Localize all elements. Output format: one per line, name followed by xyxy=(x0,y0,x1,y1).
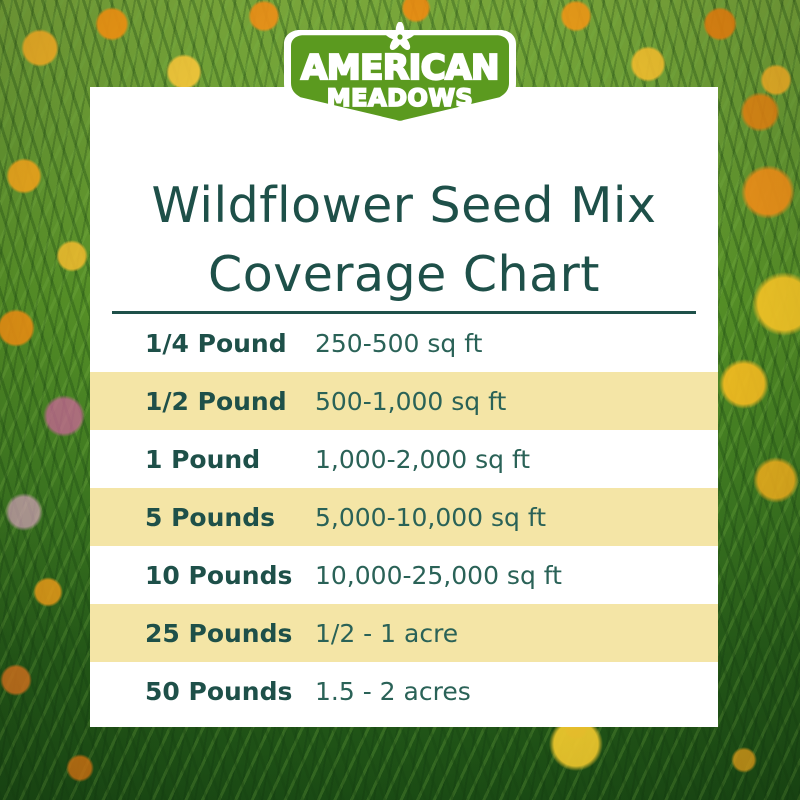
cell-coverage-area: 1,000-2,000 sq ft xyxy=(315,445,718,474)
cell-coverage-area: 1.5 - 2 acres xyxy=(315,677,718,706)
coverage-table: 1/4 Pound250-500 sq ft1/2 Pound500-1,000… xyxy=(90,314,718,720)
cell-coverage-area: 5,000-10,000 sq ft xyxy=(315,503,718,532)
table-row: 1/2 Pound500-1,000 sq ft xyxy=(90,372,718,430)
cell-seed-amount: 50 Pounds xyxy=(90,677,315,706)
american-meadows-logo: AMERICAN MEADOWS xyxy=(272,22,528,130)
cell-coverage-area: 500-1,000 sq ft xyxy=(315,387,718,416)
infographic-canvas: Wildflower Seed Mix Coverage Chart 1/4 P… xyxy=(0,0,800,800)
cell-seed-amount: 25 Pounds xyxy=(90,619,315,648)
table-row: 10 Pounds10,000-25,000 sq ft xyxy=(90,546,718,604)
cell-seed-amount: 1/2 Pound xyxy=(90,387,315,416)
table-row: 1 Pound1,000-2,000 sq ft xyxy=(90,430,718,488)
cell-coverage-area: 250-500 sq ft xyxy=(315,329,718,358)
content-card: Wildflower Seed Mix Coverage Chart 1/4 P… xyxy=(90,87,718,727)
table-row: 5 Pounds5,000-10,000 sq ft xyxy=(90,488,718,546)
cell-seed-amount: 1 Pound xyxy=(90,445,315,474)
table-row: 25 Pounds1/2 - 1 acre xyxy=(90,604,718,662)
cell-seed-amount: 5 Pounds xyxy=(90,503,315,532)
cell-coverage-area: 10,000-25,000 sq ft xyxy=(315,561,718,590)
table-row: 50 Pounds1.5 - 2 acres xyxy=(90,662,718,720)
page-title: Wildflower Seed Mix Coverage Chart xyxy=(90,171,718,309)
cell-coverage-area: 1/2 - 1 acre xyxy=(315,619,718,648)
logo-text-meadows: MEADOWS xyxy=(327,84,473,112)
cell-seed-amount: 1/4 Pound xyxy=(90,329,315,358)
logo-text-american: AMERICAN xyxy=(301,48,499,88)
table-row: 1/4 Pound250-500 sq ft xyxy=(90,314,718,372)
page-title-line-1: Wildflower Seed Mix xyxy=(90,171,718,240)
page-title-line-2: Coverage Chart xyxy=(90,240,718,309)
cell-seed-amount: 10 Pounds xyxy=(90,561,315,590)
